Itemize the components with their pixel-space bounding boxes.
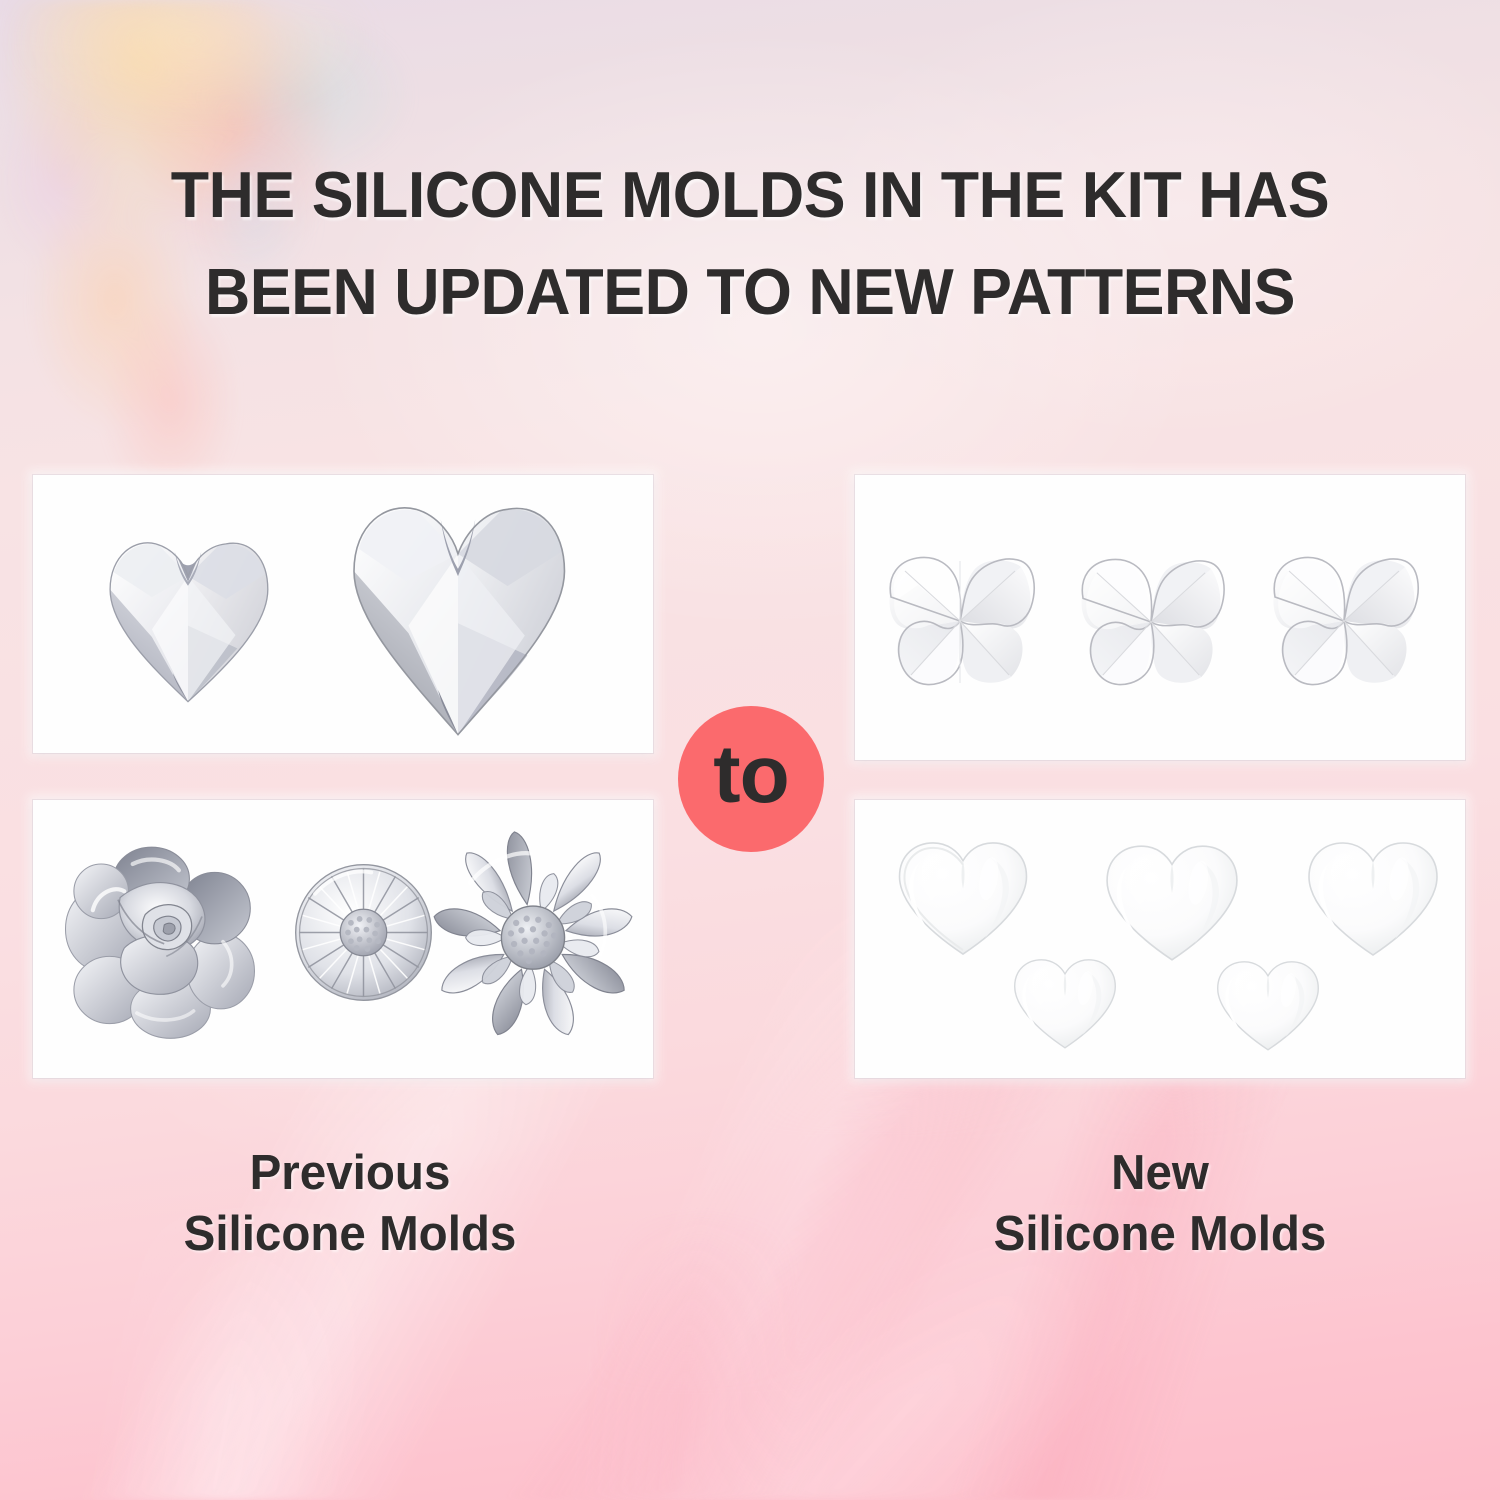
page-title: THE SILICONE MOLDS IN THE KIT HAS BEEN U… <box>26 146 1474 340</box>
mold-daisy <box>286 855 441 1010</box>
headline-line-1: THE SILICONE MOLDS IN THE KIT HAS <box>26 146 1474 243</box>
mold-faceted-heart-small <box>93 523 283 713</box>
caption-previous-line-1: Previous <box>59 1143 641 1204</box>
panel-new-hearts <box>855 800 1465 1078</box>
mold-butterfly-2 <box>1077 557 1225 687</box>
mold-puffy-heart-2 <box>1101 838 1243 966</box>
transition-to-label: to <box>713 734 788 816</box>
panel-previous-flowers <box>33 800 653 1078</box>
mold-rose <box>55 830 265 1045</box>
mold-faceted-heart-large <box>333 487 583 747</box>
caption-previous-line-2: Silicone Molds <box>59 1204 641 1265</box>
mold-puffy-heart-3 <box>1303 835 1443 961</box>
mold-puffy-heart-4 <box>1010 948 1120 1058</box>
mold-butterfly-3 <box>1269 555 1419 687</box>
caption-new-line-2: Silicone Molds <box>869 1204 1451 1265</box>
caption-new-molds: New Silicone Molds <box>869 1143 1451 1265</box>
mold-sunflower <box>433 822 633 1047</box>
mold-puffy-heart-1 <box>893 835 1033 960</box>
caption-previous-molds: Previous Silicone Molds <box>59 1143 641 1265</box>
transition-to-badge: to <box>678 706 824 852</box>
caption-new-line-1: New <box>869 1143 1451 1204</box>
panel-previous-hearts <box>33 475 653 753</box>
panel-new-butterflies <box>855 475 1465 760</box>
mold-butterfly-1 <box>885 555 1035 687</box>
mold-puffy-heart-5 <box>1213 950 1323 1060</box>
headline-line-2: BEEN UPDATED TO NEW PATTERNS <box>26 243 1474 340</box>
